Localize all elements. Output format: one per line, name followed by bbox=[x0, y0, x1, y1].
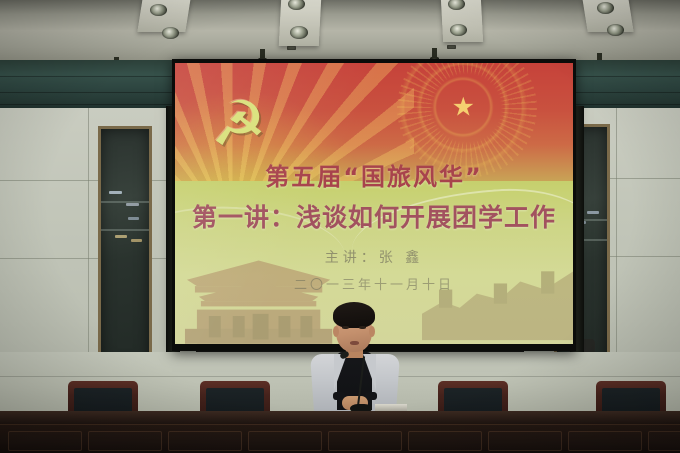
jacket-lapel bbox=[363, 354, 376, 390]
ceiling bbox=[0, 0, 680, 64]
recessed-downlight bbox=[290, 26, 308, 39]
recessed-downlight bbox=[162, 27, 179, 39]
jacket-lapel bbox=[334, 354, 347, 390]
table-panel bbox=[488, 431, 562, 451]
table-panel bbox=[8, 431, 82, 451]
ear bbox=[369, 326, 375, 337]
slide-title-line2: 第一讲：浅谈如何开展团学工作 bbox=[175, 198, 573, 234]
documents-on-table bbox=[375, 404, 407, 411]
slide-title-line1: 第五届“国旅风华” bbox=[175, 157, 573, 192]
table-panel bbox=[168, 431, 242, 451]
recessed-downlight bbox=[597, 2, 614, 14]
recessed-downlight bbox=[607, 24, 624, 36]
hair bbox=[333, 302, 375, 328]
eye bbox=[359, 326, 366, 329]
table-panel bbox=[88, 431, 162, 451]
podium-table-top bbox=[0, 411, 680, 425]
recessed-downlight bbox=[450, 24, 467, 36]
ear bbox=[333, 326, 339, 337]
seated-speaker bbox=[306, 300, 402, 412]
ceiling-vent bbox=[447, 45, 456, 49]
slide-date: 二〇一三年十一月十日 bbox=[175, 274, 573, 293]
podium-table-front bbox=[0, 425, 680, 453]
table-panel bbox=[568, 431, 642, 451]
ceiling-vent bbox=[287, 46, 296, 50]
slide-speaker-name: 主讲：张 鑫 bbox=[175, 247, 573, 267]
recessed-downlight bbox=[150, 4, 167, 16]
lecture-hall-photo: ☭ 第五届“国旅风华” 第一讲：浅谈如何开展团学工作 主讲：张 鑫 二〇一三年十… bbox=[0, 0, 680, 453]
table-panel bbox=[328, 431, 402, 451]
table-panel bbox=[648, 431, 680, 451]
eye bbox=[342, 326, 349, 329]
table-panel bbox=[408, 431, 482, 451]
table-panel bbox=[248, 431, 322, 451]
glass-window-panel-left bbox=[98, 126, 152, 368]
mouth bbox=[350, 341, 359, 345]
